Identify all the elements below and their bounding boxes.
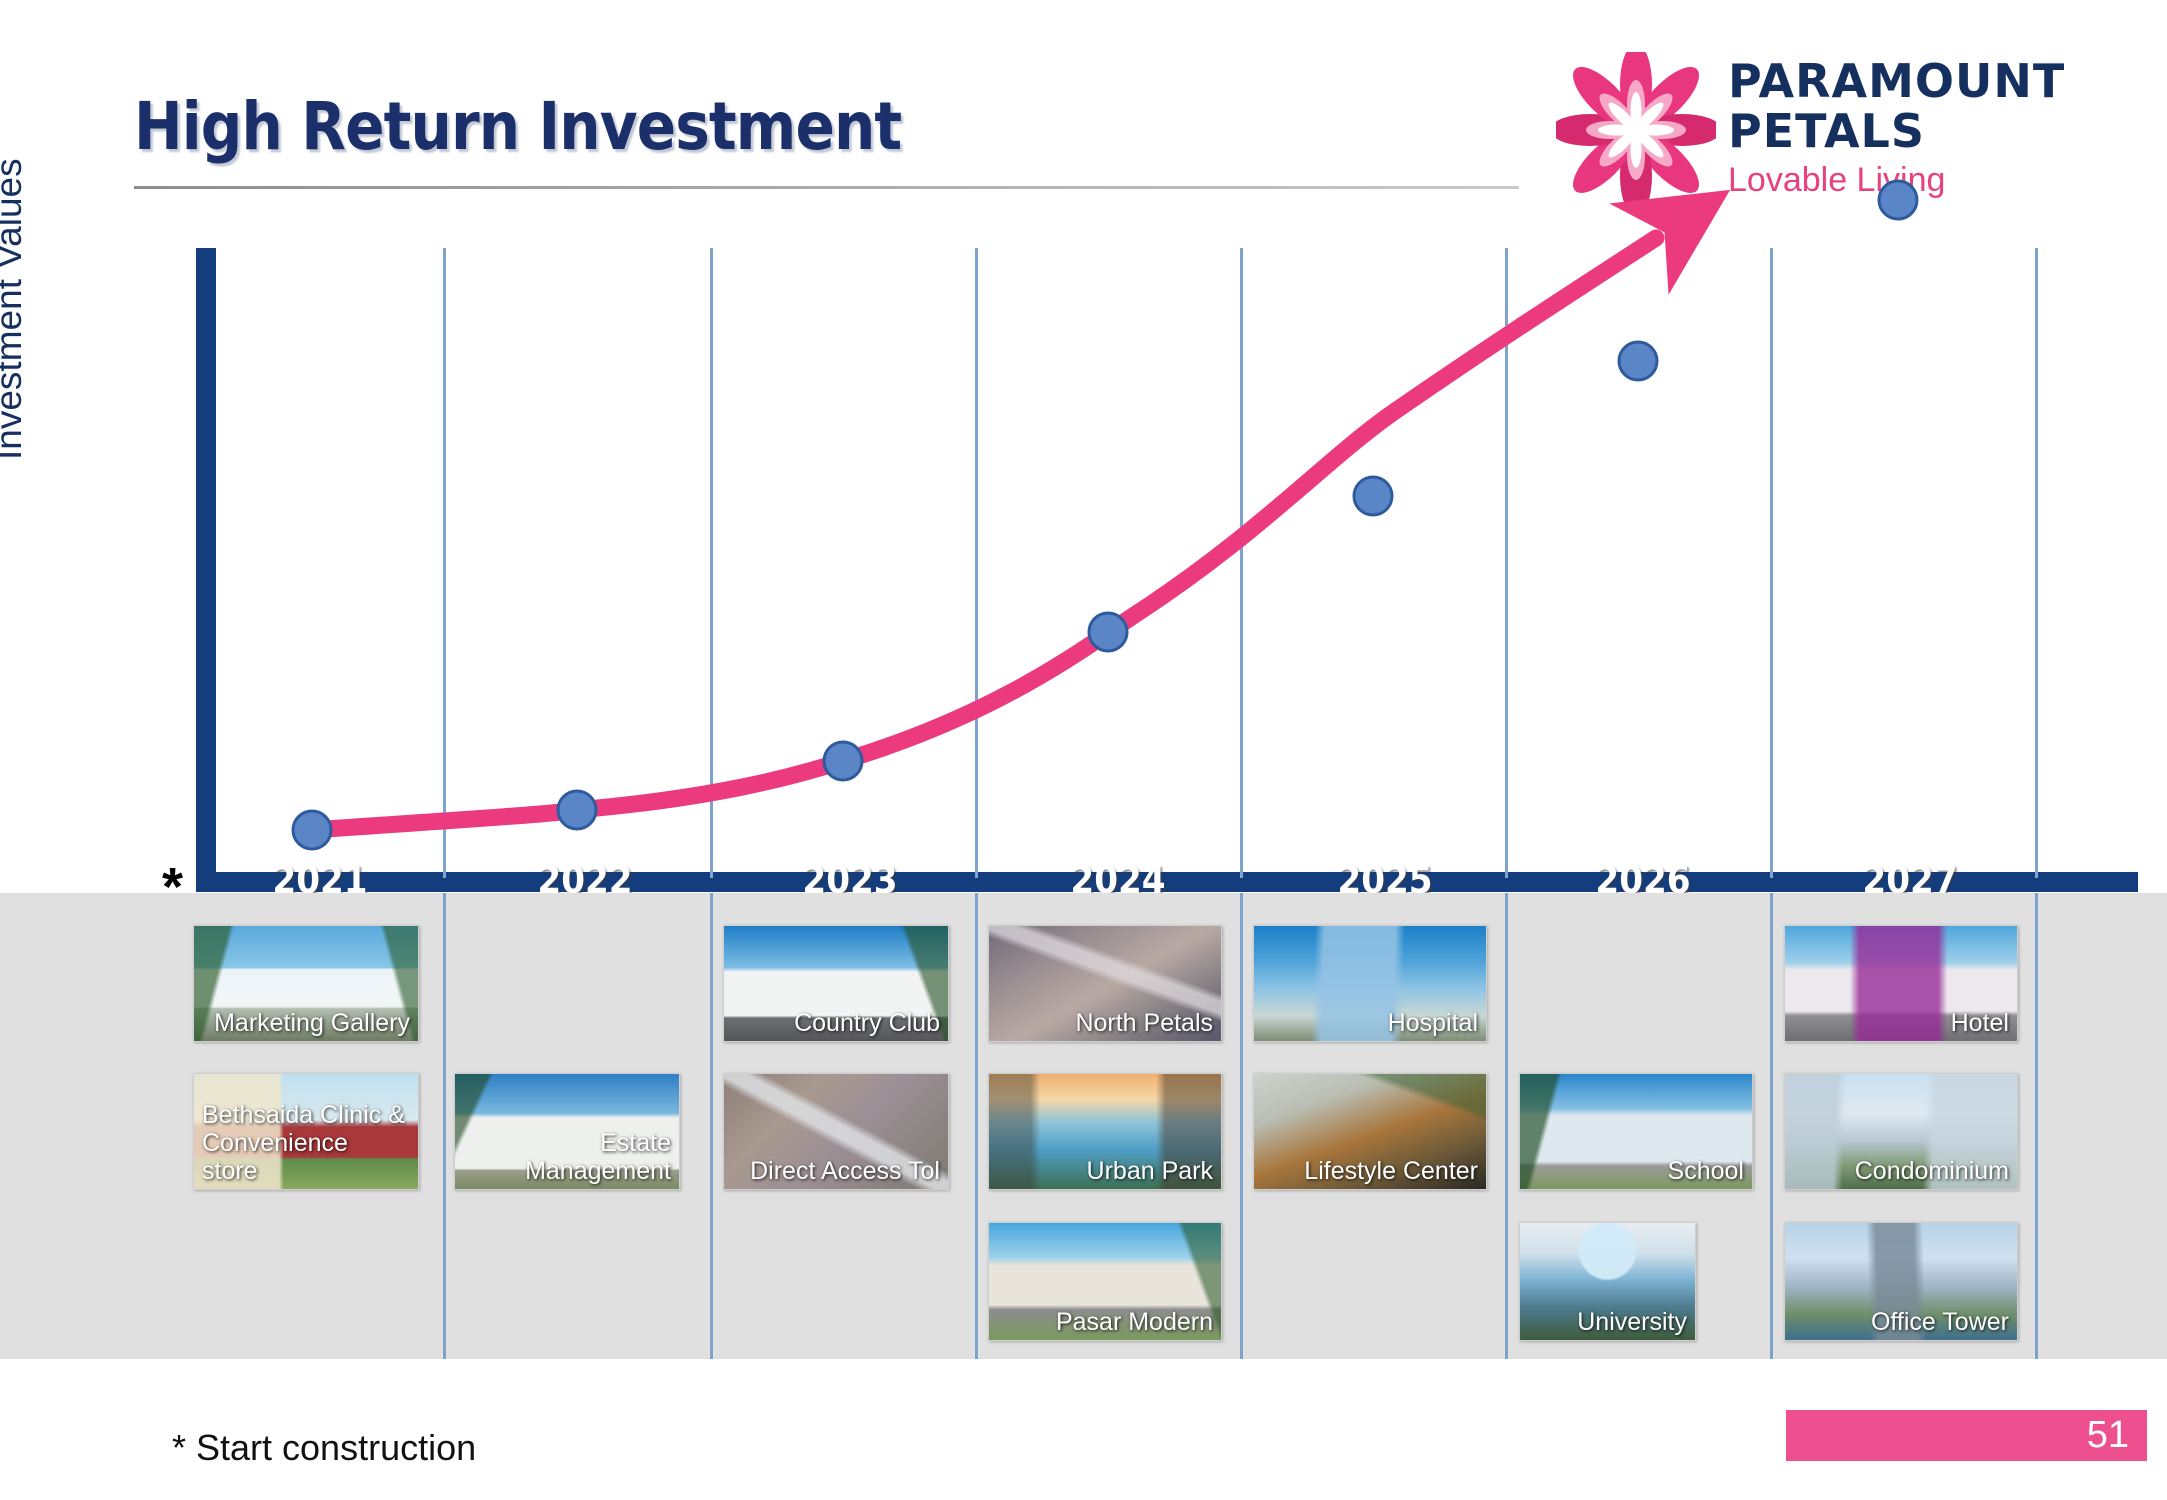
gridline bbox=[1505, 893, 1508, 1359]
logo-name-line1: PARAMOUNT bbox=[1728, 56, 2065, 106]
page-title: High Return Investment bbox=[134, 88, 901, 165]
timeline-item[interactable]: Direct Access Tol bbox=[723, 1073, 949, 1190]
trend-line bbox=[312, 238, 1656, 830]
timeline-item[interactable]: University bbox=[1519, 1222, 1696, 1341]
gridline bbox=[710, 893, 713, 1359]
footnote: * Start construction bbox=[172, 1427, 476, 1469]
data-point-2024 bbox=[1089, 613, 1127, 651]
gridline bbox=[1770, 893, 1773, 1359]
timeline-item[interactable]: Condominium bbox=[1784, 1073, 2018, 1190]
timeline-item[interactable]: Country Club bbox=[723, 925, 949, 1042]
data-point-2027 bbox=[1879, 181, 1917, 219]
data-point-2021 bbox=[293, 811, 331, 849]
timeline-item[interactable]: Hotel bbox=[1784, 925, 2018, 1042]
data-point-2025 bbox=[1354, 477, 1392, 515]
investment-growth-curve bbox=[196, 248, 2136, 878]
logo-name-line2: PETALS bbox=[1728, 106, 2065, 156]
timeline-item[interactable]: School bbox=[1519, 1073, 1753, 1190]
timeline-item-caption: Country Club bbox=[794, 1009, 940, 1037]
timeline-item[interactable]: Marketing Gallery bbox=[193, 925, 419, 1042]
data-point-2022 bbox=[558, 791, 596, 829]
timeline-item-caption: Direct Access Tol bbox=[750, 1157, 940, 1185]
data-point-2026 bbox=[1619, 342, 1657, 380]
timeline-item-caption: Urban Park bbox=[1087, 1157, 1213, 1185]
timeline-item[interactable]: Office Tower bbox=[1784, 1222, 2018, 1341]
page-number: 51 bbox=[2087, 1414, 2129, 1457]
gridline bbox=[443, 893, 446, 1359]
timeline-item[interactable]: North Petals bbox=[988, 925, 1222, 1042]
flower-icon bbox=[1556, 52, 1716, 207]
timeline-item-caption: Office Tower bbox=[1871, 1308, 2009, 1336]
page-number-bar: 51 bbox=[1786, 1410, 2147, 1461]
timeline-item-caption: School bbox=[1668, 1157, 1744, 1185]
y-axis-title: Investment Values bbox=[0, 158, 30, 460]
timeline-item-caption: North Petals bbox=[1075, 1009, 1213, 1037]
timeline-item[interactable]: Urban Park bbox=[988, 1073, 1222, 1190]
timeline-item-caption: Marketing Gallery bbox=[214, 1009, 410, 1037]
timeline-item-caption: Hotel bbox=[1951, 1009, 2009, 1037]
timeline-item-caption: Bethsaida Clinic & Convenience store bbox=[202, 1101, 410, 1185]
slide-canvas: High Return Investment bbox=[0, 0, 2167, 1500]
gridline bbox=[2035, 893, 2038, 1359]
timeline-item-caption: Hospital bbox=[1388, 1009, 1478, 1037]
timeline-item-caption: Estate Management bbox=[455, 1129, 671, 1185]
timeline-item-caption: Lifestyle Center bbox=[1304, 1157, 1478, 1185]
gridline bbox=[975, 893, 978, 1359]
data-point-markers bbox=[293, 181, 1917, 849]
timeline-item[interactable]: Pasar Modern bbox=[988, 1222, 1222, 1341]
timeline-item-caption: University bbox=[1577, 1308, 1687, 1336]
timeline-item[interactable]: Bethsaida Clinic & Convenience store bbox=[193, 1073, 419, 1190]
title-divider bbox=[134, 186, 1519, 189]
timeline-item[interactable]: Estate Management bbox=[454, 1073, 680, 1190]
brand-logo: PARAMOUNT PETALS Lovable Living bbox=[1556, 52, 2096, 207]
timeline-item[interactable]: Lifestyle Center bbox=[1253, 1073, 1487, 1190]
logo-wordmark: PARAMOUNT PETALS Lovable Living bbox=[1728, 56, 2065, 200]
timeline-item-caption: Pasar Modern bbox=[1056, 1308, 1213, 1336]
chart-plot-area bbox=[196, 248, 2136, 878]
data-point-2023 bbox=[824, 742, 862, 780]
timeline-item[interactable]: Hospital bbox=[1253, 925, 1487, 1042]
gridline bbox=[1240, 893, 1243, 1359]
timeline-item-caption: Condominium bbox=[1855, 1157, 2009, 1185]
